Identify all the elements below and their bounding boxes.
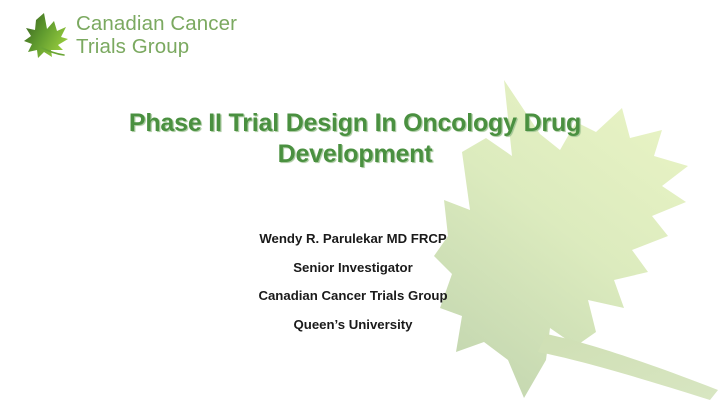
logo-line-2: Trials Group <box>76 35 237 58</box>
title-slide: Canadian Cancer Trials Group Phase II Tr… <box>0 0 720 405</box>
logo: Canadian Cancer Trials Group <box>20 9 237 61</box>
page-title: Phase II Trial Design In Oncology Drug D… <box>90 108 620 170</box>
maple-leaf-logo-icon <box>20 9 72 61</box>
byline-line-affiliation: Queen’s University <box>183 311 523 340</box>
logo-text: Canadian Cancer Trials Group <box>76 12 237 58</box>
logo-line-1: Canadian Cancer <box>76 12 237 35</box>
byline-line-role: Senior Investigator <box>183 254 523 283</box>
byline-line-name: Wendy R. Parulekar MD FRCP <box>183 225 523 254</box>
presenter-byline: Wendy R. Parulekar MD FRCP Senior Invest… <box>183 225 523 339</box>
byline-line-organization: Canadian Cancer Trials Group <box>183 282 523 311</box>
